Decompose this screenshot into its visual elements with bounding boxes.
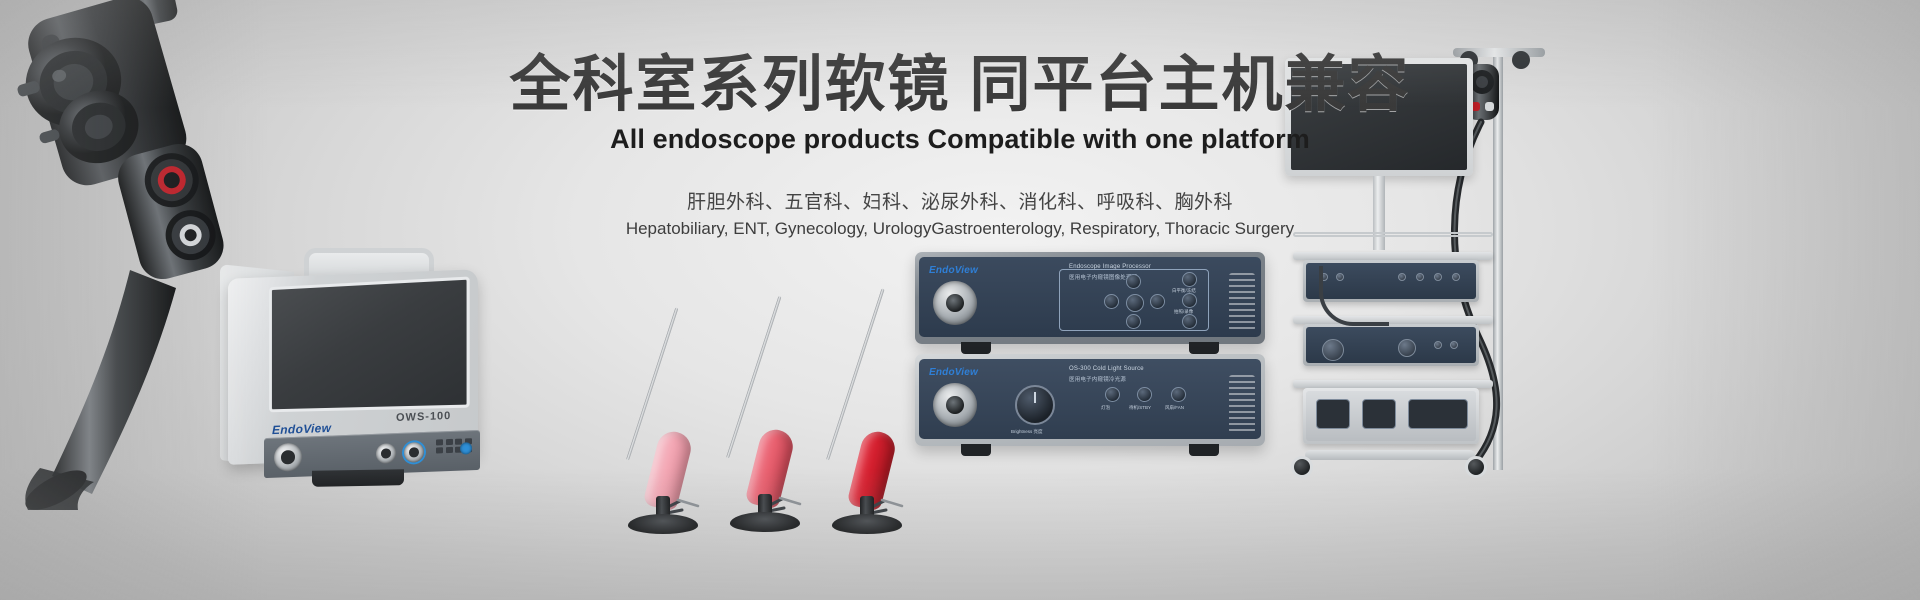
cart-cable [1319,266,1389,326]
cart-base-leg [1305,450,1475,460]
right-button[interactable] [1150,294,1165,309]
light-source-unit: EndoView OS-300 Cold Light Source 医用电子内窥… [915,354,1265,446]
light-port[interactable] [1322,339,1344,361]
down-button[interactable] [1126,314,1141,329]
page-title: 全科室系列软镜 同平台主机兼容 [0,52,1920,118]
banner-root: EndoView OWS-100 [0,0,1920,600]
indicator-dot[interactable] [1416,273,1424,281]
cart-shelf [1293,316,1493,324]
light-guide-port[interactable] [933,383,977,427]
instrument-stand-base [730,512,800,532]
standby-button[interactable] [1137,387,1152,402]
cart-device-2 [1303,324,1479,366]
departments-english: Hepatobiliary, ENT, Gynecology, UrologyG… [0,219,1920,239]
scope-connector-port[interactable] [274,443,302,472]
cart-shelf [1293,252,1493,260]
lamp-label: 灯泡 [1101,405,1110,411]
confirm-button[interactable] [1182,314,1197,329]
power-indicator [460,442,472,454]
ows-workstation: EndoView OWS-100 [228,248,528,498]
departments-chinese: 肝胆外科、五官科、妇科、泌尿外科、消化科、呼吸科、胸外科 [0,187,1920,214]
indicator-dot[interactable] [1434,341,1442,349]
cart-device-2-panel [1306,327,1476,363]
cart-device-3 [1303,388,1479,444]
indicator-dot[interactable] [1452,273,1460,281]
indicator-dot[interactable] [1398,273,1406,281]
lamp-button[interactable] [1105,387,1120,402]
unit-foot [1189,342,1219,354]
brightness-label: Brightness 亮度 [1011,429,1043,435]
light-source-face: EndoView OS-300 Cold Light Source 医用电子内窥… [919,359,1261,439]
scope-connector-port[interactable] [933,281,977,325]
knob-control[interactable] [1398,339,1416,357]
capture-button[interactable] [1182,293,1197,308]
unit-title-cn: 医用电子内窥镜冷光源 [1069,375,1126,383]
sub-display [1316,399,1350,429]
vent-grille [1229,375,1255,433]
cart-device-3-panel [1306,391,1476,441]
image-processor-face: EndoView Endoscope Image Processor 医用电子内… [919,257,1261,337]
cart-caster-left [1291,456,1313,478]
standby-label: 待机/STBY [1129,405,1151,411]
unit-brand: EndoView [929,367,978,378]
workstation-brand: EndoView [272,421,331,437]
menu-button[interactable] [1126,294,1144,312]
instrument-stand-base [628,514,698,534]
fan-button[interactable] [1171,387,1186,402]
workstation-model: OWS-100 [396,410,451,424]
banner-text-block: 全科室系列软镜 同平台主机兼容 All endoscope products C… [0,52,1920,239]
sub-display [1362,399,1396,429]
workstation-display [269,277,470,413]
left-button[interactable] [1104,294,1119,309]
instrument-stand-base [832,514,902,534]
workstation-base [312,469,404,487]
cart-caster-right [1465,456,1487,478]
indicator-dot[interactable] [1450,341,1458,349]
white-balance-button[interactable] [1182,272,1197,287]
fan-label: 风扇/FAN [1165,405,1184,411]
image-processor-unit: EndoView Endoscope Image Processor 医用电子内… [915,252,1265,344]
unit-foot [961,444,991,456]
cart-shelf [1293,380,1493,388]
aux-port-2[interactable] [404,442,424,463]
processor-stack: EndoView Endoscope Image Processor 医用电子内… [915,252,1275,472]
up-button[interactable] [1126,274,1141,289]
unit-foot [1189,444,1219,456]
sub-display [1408,399,1468,429]
page-subtitle: All endoscope products Compatible with o… [0,124,1920,155]
brightness-knob[interactable] [1015,385,1055,425]
unit-brand: EndoView [929,265,978,276]
control-keybox: 白平衡/冻结 拍照/录像 [1059,269,1209,331]
unit-foot [961,342,991,354]
aux-port-1[interactable] [376,443,396,464]
unit-title-en: OS-300 Cold Light Source [1069,366,1144,372]
indicator-dot[interactable] [1434,273,1442,281]
vent-grille [1229,273,1255,331]
